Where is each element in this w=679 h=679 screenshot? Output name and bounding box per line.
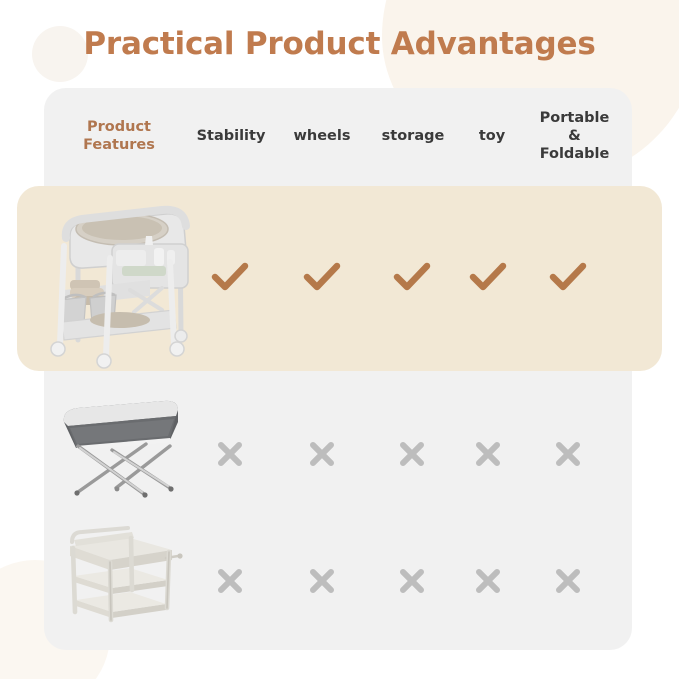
- header-column-toy: toy: [457, 88, 527, 186]
- header-column-stability: Stability: [184, 88, 278, 186]
- cross-icon: [473, 439, 503, 469]
- cell-portable-foldable-row3: [538, 551, 598, 611]
- cell-storage-row1: [382, 248, 442, 308]
- cell-storage-row3: [382, 551, 442, 611]
- header-column-portable-line3: Foldable: [540, 146, 610, 164]
- header-column-storage: storage: [367, 88, 459, 186]
- product-image-wooden-changing-table: [54, 518, 186, 622]
- check-icon: [303, 263, 341, 293]
- page-title: Practical Product Advantages: [0, 26, 679, 62]
- product-image-folding-changing-table: [52, 388, 188, 504]
- header-column-wheels: wheels: [277, 88, 367, 186]
- header-column-portable-foldable: Portable & Foldable: [522, 88, 627, 186]
- folding-changing-table-illustration: [52, 388, 188, 504]
- cell-stability-row3: [200, 551, 260, 611]
- check-icon: [393, 263, 431, 293]
- cell-toy-row1: [458, 248, 518, 308]
- cell-wheels-row3: [292, 551, 352, 611]
- header-column-toy-label: toy: [479, 128, 505, 146]
- wooden-changing-table-illustration: [54, 518, 186, 622]
- cell-stability-row2: [200, 424, 260, 484]
- header-product-features-line2: Features: [83, 137, 155, 155]
- cell-portable-foldable-row2: [538, 424, 598, 484]
- cross-icon: [397, 439, 427, 469]
- cell-toy-row3: [458, 551, 518, 611]
- cross-icon: [553, 566, 583, 596]
- check-icon: [211, 263, 249, 293]
- table-header-row: Product Features Stability wheels storag…: [44, 88, 632, 186]
- cross-icon: [397, 566, 427, 596]
- product-image-baby-changing-station: [34, 192, 209, 367]
- cross-icon: [215, 439, 245, 469]
- check-icon: [469, 263, 507, 293]
- cell-stability-row1: [200, 248, 260, 308]
- check-icon: [549, 263, 587, 293]
- cross-icon: [473, 566, 503, 596]
- header-product-features: Product Features: [44, 88, 194, 186]
- header-column-wheels-label: wheels: [294, 128, 351, 146]
- cross-icon: [215, 566, 245, 596]
- cross-icon: [307, 566, 337, 596]
- cross-icon: [307, 439, 337, 469]
- header-column-portable-line1: Portable: [540, 110, 610, 128]
- cell-storage-row2: [382, 424, 442, 484]
- header-column-portable-line2: &: [540, 128, 610, 146]
- header-column-storage-label: storage: [382, 128, 445, 146]
- cell-wheels-row2: [292, 424, 352, 484]
- header-column-stability-label: Stability: [197, 128, 266, 146]
- cell-portable-foldable-row1: [538, 248, 598, 308]
- infographic-canvas: Practical Product Advantages Product Fea…: [0, 0, 679, 679]
- header-product-features-line1: Product: [83, 119, 155, 137]
- cell-wheels-row1: [292, 248, 352, 308]
- cross-icon: [553, 439, 583, 469]
- cell-toy-row2: [458, 424, 518, 484]
- baby-changing-station-illustration: [34, 192, 209, 367]
